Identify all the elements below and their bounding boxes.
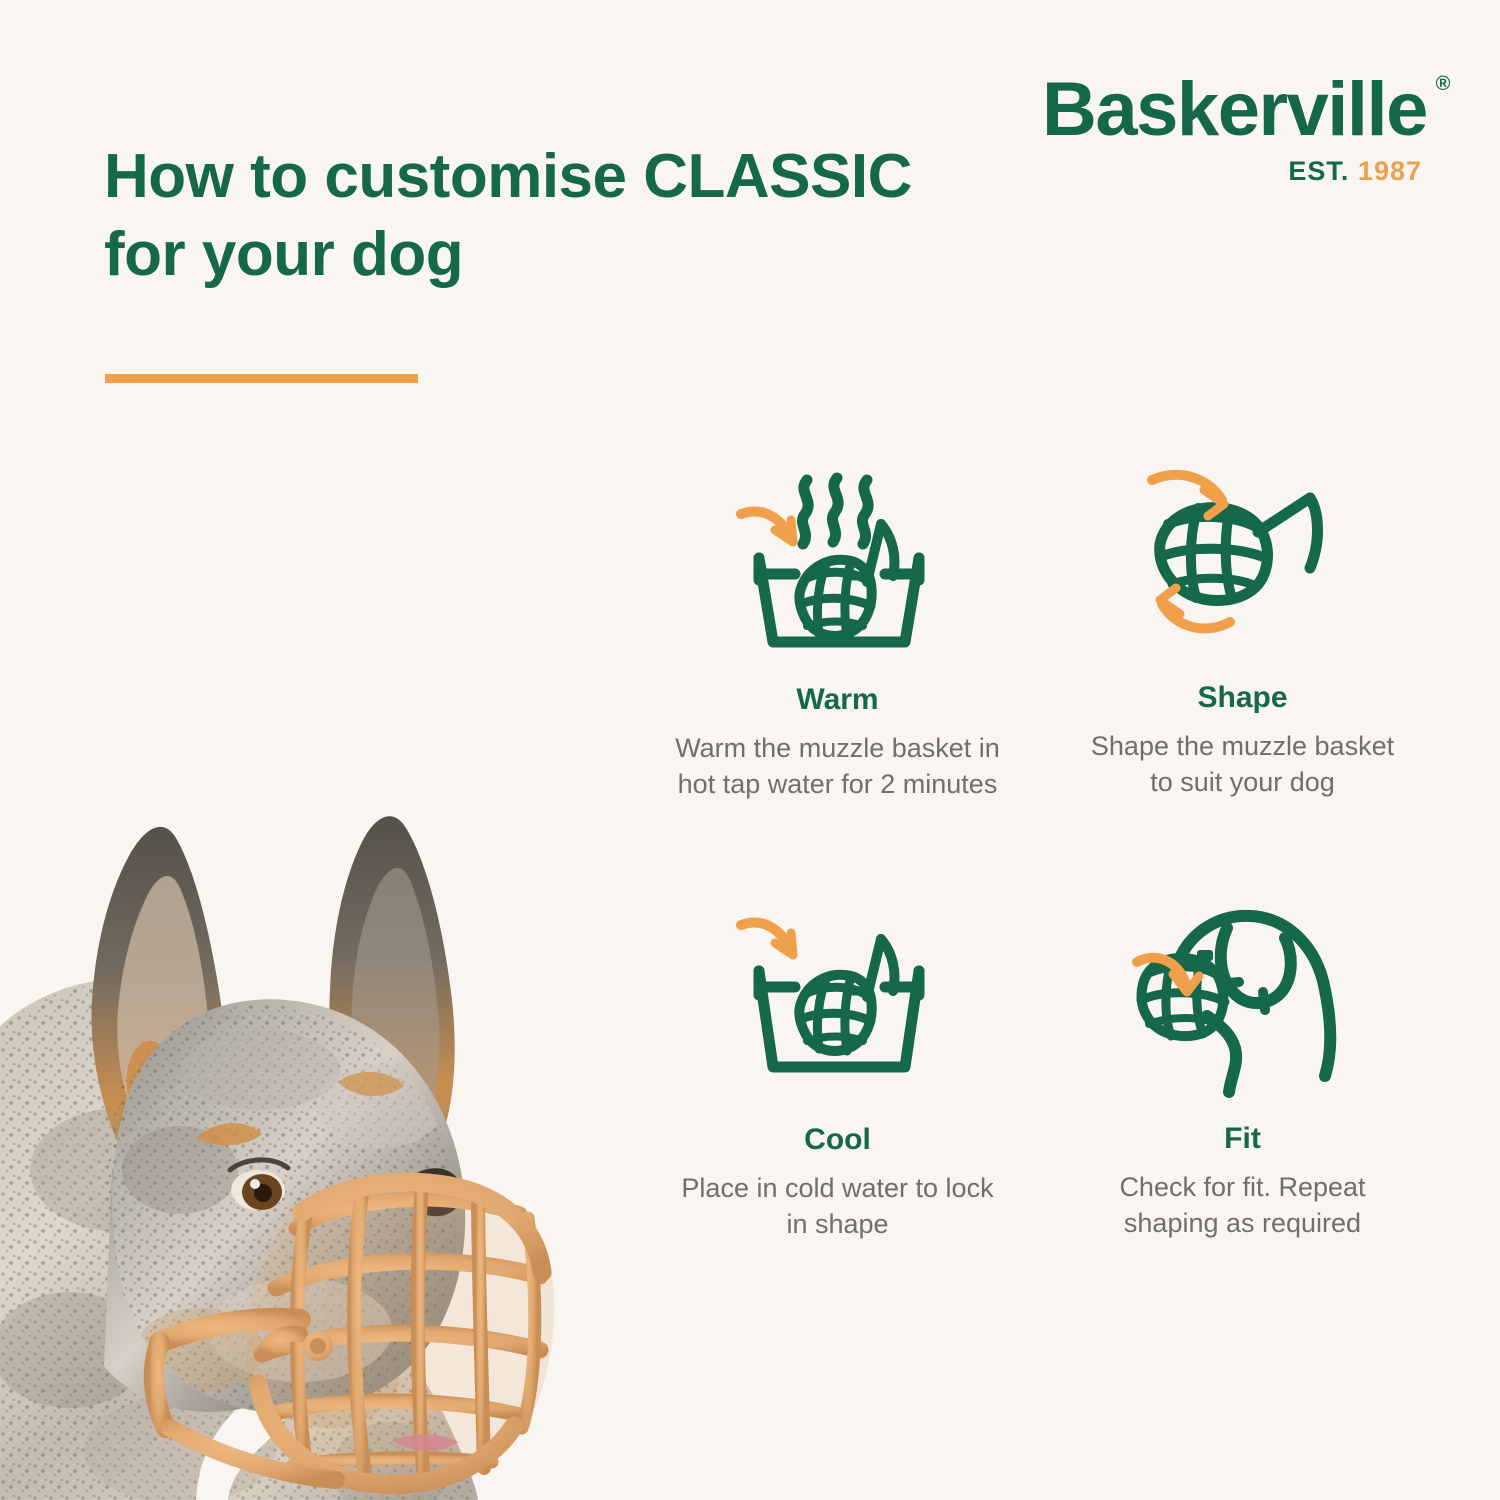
step-description: Check for fit. Repeat shaping as require… xyxy=(1078,1170,1408,1242)
logo-established-line: EST. 1987 xyxy=(1042,158,1422,185)
step-title: Warm xyxy=(796,683,878,717)
fit-dog-head-icon xyxy=(1133,901,1353,1106)
brand-logo: Baskerville ® EST. 1987 xyxy=(1042,72,1422,185)
step-description: Place in cold water to lock in shape xyxy=(673,1171,1003,1243)
shape-muzzle-icon xyxy=(1133,461,1353,651)
registered-trademark-icon: ® xyxy=(1436,74,1449,94)
logo-est-year: 1987 xyxy=(1358,156,1422,186)
logo-wordmark-label: Baskerville xyxy=(1042,67,1427,152)
logo-est-label: EST. xyxy=(1288,156,1349,186)
infographic-page: Baskerville ® EST. 1987 How to customise… xyxy=(0,0,1500,1500)
warm-basin-icon xyxy=(728,461,948,671)
step-title: Cool xyxy=(804,1123,871,1157)
step-description: Shape the muzzle basket to suit your dog xyxy=(1078,729,1408,801)
title-underline-rule xyxy=(105,374,418,383)
step-fit: Fit Check for fit. Repeat shaping as req… xyxy=(1045,895,1440,1335)
step-title: Fit xyxy=(1224,1122,1261,1156)
logo-wordmark-text: Baskerville ® xyxy=(1042,72,1427,148)
cool-basin-icon xyxy=(728,901,948,1111)
step-warm: Warm Warm the muzzle basket in hot tap w… xyxy=(640,455,1035,895)
step-shape: Shape Shape the muzzle basket to suit yo… xyxy=(1045,455,1440,895)
step-title: Shape xyxy=(1197,681,1287,715)
steps-grid: Warm Warm the muzzle basket in hot tap w… xyxy=(640,455,1440,1335)
dog-photo xyxy=(0,470,640,1500)
page-title: How to customise CLASSIC for your dog xyxy=(104,138,924,294)
step-cool: Cool Place in cold water to lock in shap… xyxy=(640,895,1035,1335)
step-description: Warm the muzzle basket in hot tap water … xyxy=(673,731,1003,803)
